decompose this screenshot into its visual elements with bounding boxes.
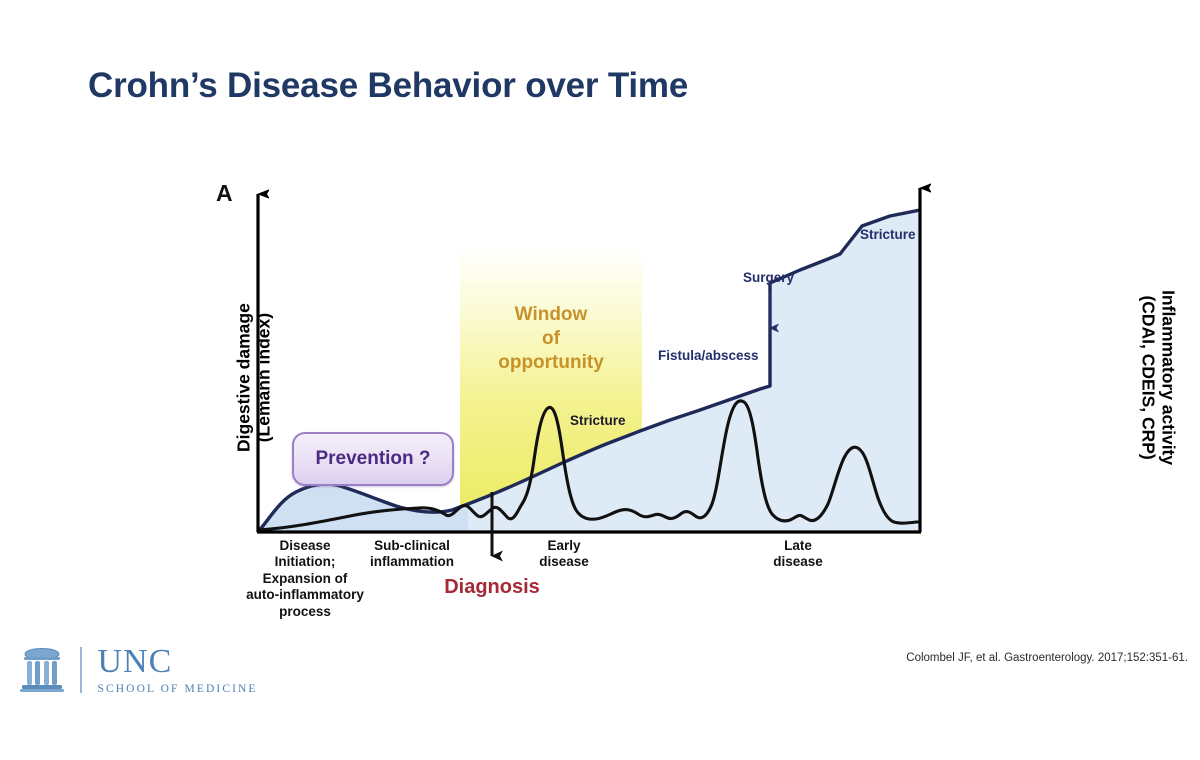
y-axis-left-title-line2: (Lemann index) — [253, 313, 273, 442]
window-of-opportunity-label: Window of opportunity — [451, 303, 651, 375]
logo-unc-text: UNC — [98, 645, 258, 679]
annotation-stricture-late: Stricture — [860, 227, 916, 242]
y-axis-left-title: Digestive damage (Lemann index) — [234, 258, 273, 498]
unc-old-well-icon — [18, 645, 66, 695]
annotation-stricture-early: Stricture — [570, 413, 626, 428]
prevention-callout[interactable]: Prevention ? — [292, 432, 454, 486]
stage-label-sub-clinical: Sub-clinicalinflammation — [357, 538, 467, 571]
stage-label-disease-initiation: DiseaseInitiation;Expansion ofauto-infla… — [240, 538, 370, 620]
unc-logo: UNC SCHOOL OF MEDICINE — [18, 645, 258, 695]
y-axis-left-title-line1: Digestive damage — [233, 303, 253, 452]
y-axis-right-title-line2: (CDAI, CDEIS, CRP) — [1139, 295, 1159, 459]
annotation-fistula-abscess: Fistula/abscess — [658, 348, 759, 363]
logo-school-text: SCHOOL OF MEDICINE — [98, 683, 258, 695]
prevention-label: Prevention ? — [315, 448, 430, 470]
stage-label-late-disease: Latedisease — [750, 538, 846, 571]
damage-area-early-tint — [258, 484, 468, 532]
annotation-surgery: Surgery — [743, 270, 794, 285]
y-axis-right-title-line1: Inflammatory activity — [1159, 290, 1179, 465]
logo-divider — [80, 647, 82, 693]
page-title: Crohn’s Disease Behavior over Time — [88, 66, 688, 106]
window-label-line3: opportunity — [498, 352, 604, 373]
slide-canvas: Crohn’s Disease Behavior over Time A — [0, 0, 1200, 760]
window-label-line1: Window — [515, 304, 588, 325]
stage-label-early-disease: Earlydisease — [516, 538, 612, 571]
citation-text: Colombel JF, et al. Gastroenterology. 20… — [906, 652, 1188, 664]
window-label-line2: of — [542, 328, 560, 349]
diagnosis-label: Diagnosis — [432, 576, 552, 599]
y-axis-right-title: Inflammatory activity (CDAI, CDEIS, CRP) — [1138, 258, 1177, 498]
logo-wordmark: UNC SCHOOL OF MEDICINE — [98, 645, 258, 695]
